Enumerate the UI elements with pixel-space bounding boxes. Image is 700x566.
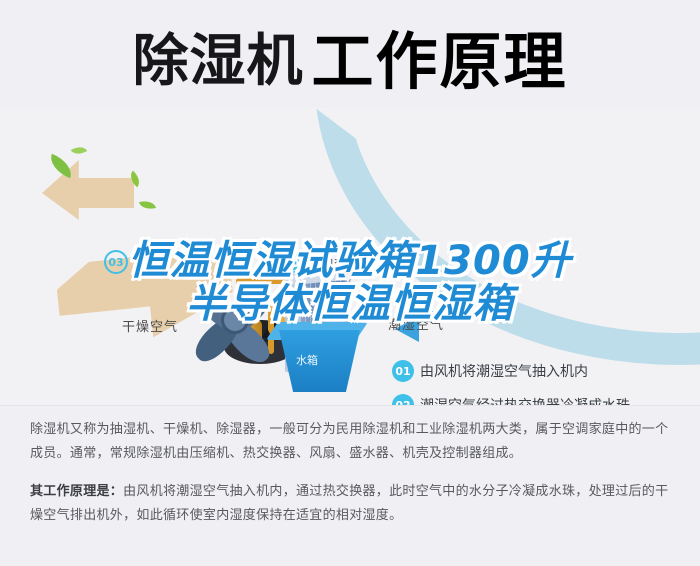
- description-paragraph-2-label: 其工作原理是：: [30, 484, 123, 499]
- callout-03: 03: [104, 250, 128, 274]
- leaf-icon: [71, 143, 88, 158]
- badge-02: 02: [392, 394, 414, 405]
- heat-exchanger-bubble: 热交换器: [315, 252, 375, 274]
- section-divider: [0, 405, 700, 406]
- dehumidifier-diagram: 干燥空气: [0, 108, 700, 405]
- callout-02: 02 热交换器: [288, 252, 375, 274]
- page-title-part1: 除湿机: [132, 34, 303, 90]
- water-tank-label: 水箱: [296, 352, 318, 368]
- page-title-part2: 工作原理: [311, 31, 567, 93]
- list-item-label: 由风机将潮湿空气抽入机内: [420, 361, 588, 381]
- list-item-label: 潮湿空气经过热交换器冷凝成水珠: [420, 395, 630, 405]
- description-paragraph-2: 其工作原理是：由风机将潮湿空气抽入机内，通过热交换器，此时空气中的水分子冷凝成水…: [30, 480, 675, 528]
- description-paragraph-1: 除湿机又称为抽湿机、干燥机、除湿器，一般可分为民用除湿机和工业除湿机两大类，属于…: [30, 418, 675, 466]
- fan-hub: [221, 306, 249, 334]
- callout-01: 01: [398, 284, 422, 308]
- page-root: 除湿机 工作原理 干燥空气: [0, 0, 700, 566]
- description-section: 除湿机又称为抽湿机、干燥机、除湿器，一般可分为民用除湿机和工业除湿机两大类，属于…: [30, 418, 675, 542]
- badge-02: 02: [288, 252, 310, 274]
- process-bullet-list: 01 由风机将潮湿空气抽入机内 02 潮湿空气经过热交换器冷凝成水珠 03 从上…: [392, 360, 692, 405]
- list-item: 02 潮湿空气经过热交换器冷凝成水珠: [392, 394, 692, 405]
- badge-01: 01: [398, 284, 422, 308]
- moist-air-label: 潮湿空气: [388, 314, 444, 333]
- description-paragraph-2-text: 由风机将潮湿空气抽入机内，通过热交换器，此时空气中的水分子冷凝成水珠，处理过后的…: [30, 484, 668, 523]
- badge-03: 03: [104, 250, 128, 274]
- page-title: 除湿机 工作原理: [0, 24, 700, 100]
- dry-air-label: 干燥空气: [122, 316, 178, 335]
- badge-01: 01: [392, 360, 414, 382]
- leaf-icon: [139, 198, 156, 212]
- fan-icon: [183, 272, 287, 368]
- list-item: 01 由风机将潮湿空气抽入机内: [392, 360, 692, 382]
